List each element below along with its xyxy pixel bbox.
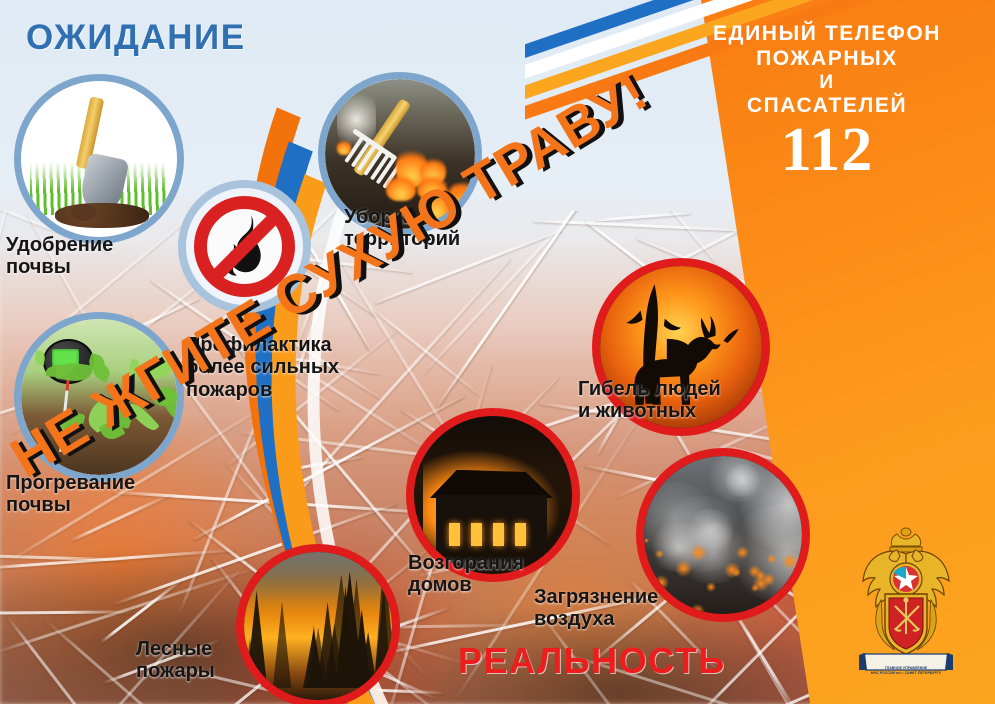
forest-fire-icon: [244, 552, 392, 700]
page-title-reality: РЕАЛЬНОСТЬ: [458, 640, 726, 682]
label-fertilize: Удобрение почвы: [6, 234, 113, 279]
emblem-caption: ГЛАВНОЕ УПРАВЛЕНИЕ МЧС РОССИИ по г. САНК…: [853, 666, 959, 676]
label-houses: Возгорания домов: [408, 552, 524, 597]
emercom-spb-emblem: ГЛАВНОЕ УПРАВЛЕНИЕ МЧС РОССИИ по г. САНК…: [847, 524, 965, 682]
label-deaths: Гибель людей и животных: [578, 378, 721, 423]
emblem-caption-line-2: МЧС РОССИИ по г. САНКТ-ПЕТЕРБУРГУ: [853, 671, 959, 676]
emergency-line-4: СПАСАТЕЛЕЙ: [677, 94, 977, 119]
shovel-soil-icon: [21, 81, 177, 237]
smoke-cloud-icon: [644, 456, 802, 614]
fire-safety-poster: ОЖИДАНИЕ ЕДИНЫЙ ТЕЛЕФОН ПОЖАРНЫХ И СПАСА…: [0, 0, 995, 704]
reality-circle-forest: [236, 544, 400, 704]
reality-circle-air: [636, 448, 810, 622]
page-title-expectation: ОЖИДАНИЕ: [26, 18, 246, 58]
emergency-line-3: И: [677, 72, 977, 94]
emblem-svg: [847, 524, 965, 682]
expectation-circle-fertilize: [14, 74, 184, 244]
label-forest: Лесные пожары: [136, 638, 215, 683]
emergency-line-1: ЕДИНЫЙ ТЕЛЕФОН: [677, 22, 977, 47]
emergency-line-2: ПОЖАРНЫХ: [677, 47, 977, 72]
burning-house-icon: [414, 416, 572, 574]
emergency-phone-number: 112: [677, 121, 977, 180]
label-air: Загрязнение воздуха: [534, 586, 658, 631]
emergency-phone-block: ЕДИНЫЙ ТЕЛЕФОН ПОЖАРНЫХ И СПАСАТЕЛЕЙ 112: [677, 22, 977, 180]
